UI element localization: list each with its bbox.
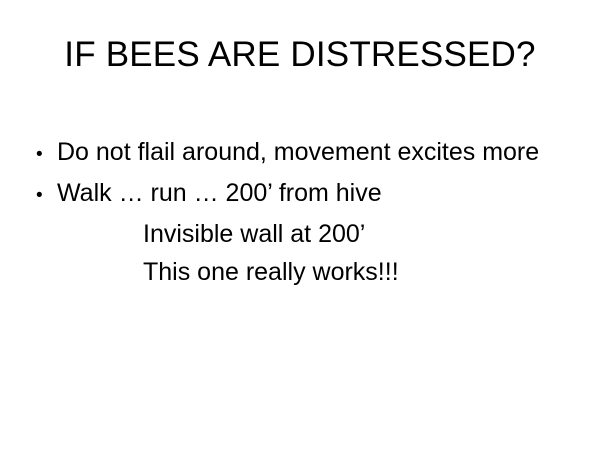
list-item-label: Do not flail around, movement excites mo… xyxy=(57,133,539,171)
bullet-icon: • xyxy=(31,136,57,174)
slide-canvas: IF BEES ARE DISTRESSED? • Do not flail a… xyxy=(0,0,600,450)
sub-list-item-label: Invisible wall at 200’ xyxy=(31,215,571,253)
slide-body-content: • Do not flail around, movement excites … xyxy=(31,133,571,291)
sub-list-item-label: This one really works!!! xyxy=(31,253,571,291)
list-item: • Do not flail around, movement excites … xyxy=(31,133,571,174)
list-item-label: Walk … run … 200’ from hive xyxy=(57,174,382,212)
bullet-icon: • xyxy=(31,177,57,215)
page-title: IF BEES ARE DISTRESSED? xyxy=(40,36,560,75)
list-item: • Walk … run … 200’ from hive xyxy=(31,174,571,215)
